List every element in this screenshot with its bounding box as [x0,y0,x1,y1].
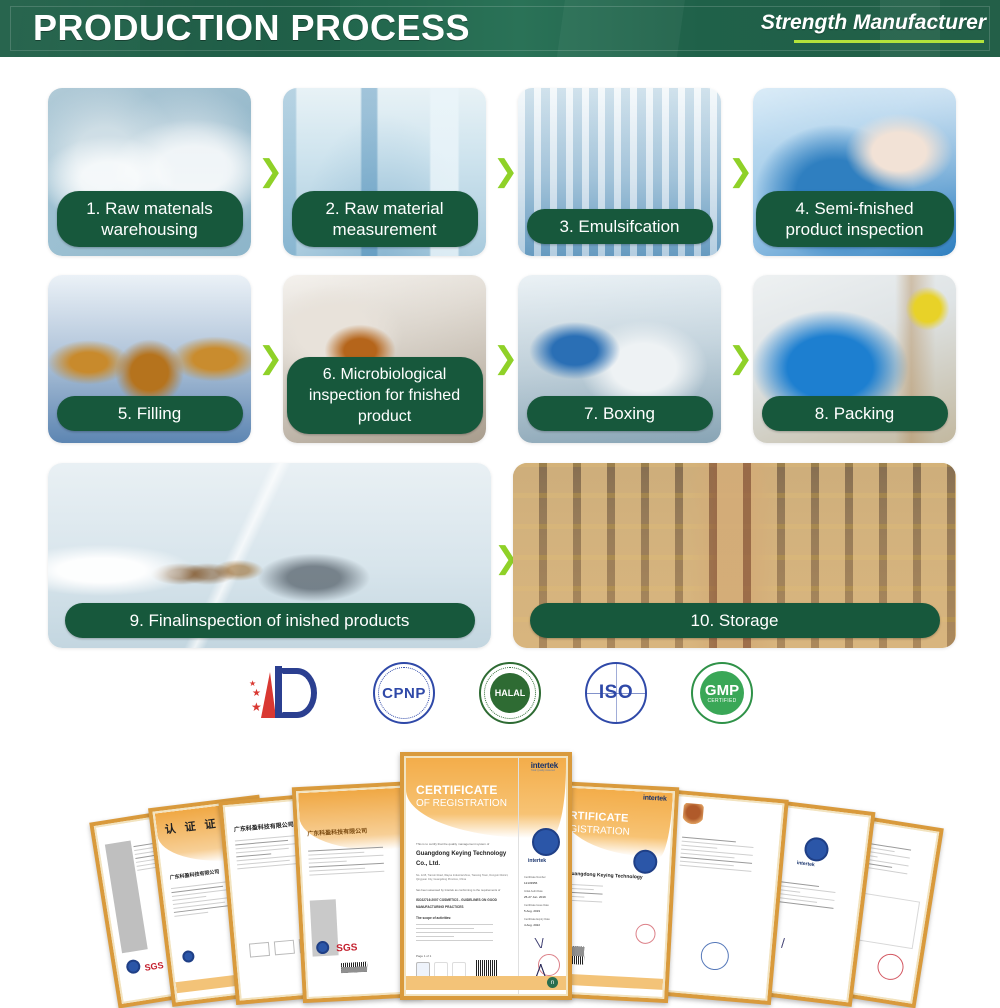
intertek-tagline: Total Quality Assured [531,768,558,772]
page-header-banner: PRODUCTION PROCESS Strength Manufacturer [0,0,1000,57]
certificate-paper: intertek CERTIFICATE OF REGISTRATION Gua… [554,787,673,996]
cert-sgs-mark: SGS [336,946,357,951]
certificate-address: No. 12-B, Tianxin Road, Wayue Industrial… [416,874,512,882]
gmp-logo: GMP CERTIFIED [691,662,753,724]
gmp-badge: GMP CERTIFIED [700,671,744,715]
process-step-card-10[interactable]: 10. Storage [513,463,956,648]
certification-logo-strip: ★ ★ ★ CPNP HALAL ISO GMP CERTIFIED [0,660,1000,726]
intertek-wordmark-secondary: intertek [528,859,546,863]
china-p-logo: ★ ★ ★ [247,662,329,724]
process-step-card-8[interactable]: 8. Packing [753,275,956,443]
chevron-right-icon-2: ❯ [493,157,518,187]
iso-label: ISO [585,662,647,724]
certificate-scope-heading: The scope of activities: [416,916,451,920]
chevron-right-icon-1: ❯ [258,157,283,187]
cert-signature-1 [528,938,562,948]
cert-text-line [309,868,365,872]
certificate-intro: This is to certify that the quality mana… [416,842,489,846]
cert-text-line [309,861,347,864]
halal-label: HALAL [490,673,530,713]
cert-field-label-3: Certificate Expiry Date [524,918,550,922]
cert-ukas-badge: n [547,977,558,988]
cert-footer-band [406,976,566,990]
process-step-card-9[interactable]: 9. Finalinspection of inished products [48,463,491,648]
tagline-underline [794,40,984,43]
cert-red-stamp [635,923,656,944]
p-logo-star-2: ★ [252,688,261,699]
banner-tagline: Strength Manufacturer [761,9,986,37]
certificate-company-line1: Guangdong Keying Technology [416,852,506,856]
process-step-card-2[interactable]: 2. Raw material measurement [283,88,486,256]
cert-field-value-0: 12133956 [524,881,537,885]
page-title: PRODUCTION PROCESS [33,6,470,50]
cert-field-value-2: 5 Aug. 2019 [524,909,540,913]
cert-text-line [308,847,383,852]
process-step-card-6[interactable]: 6. Microbiological inspection for fnishe… [283,275,486,443]
cert-text-line [416,924,493,925]
cert-company-name: 广东科盈科技有限公司 [234,823,294,832]
halal-logo: HALAL [479,662,541,724]
cert-company-name: 广东科盈科技有限公司 [169,870,219,880]
step-label-1: 1. Raw matenals warehousing [57,191,243,247]
step-label-5: 5. Filling [57,396,243,431]
certificate-paper: 广东科盈科技有限公司 SGS [298,787,417,996]
cert-field-label-1: Initial Audit Date [524,890,543,894]
cert-blue-stamp [700,941,730,971]
cert-text-line [416,928,474,929]
cert-column-divider [518,758,519,994]
intertek-logo: intertek [643,797,667,802]
cert-signature-2 [526,964,562,976]
certificate-standard-line1: ISO22716:2007 COSMETICS - GUIDELINES ON … [416,898,497,902]
intertek-wordmark: intertek [643,795,667,803]
cert-text-line [567,884,603,887]
chevron-right-icon-3: ❯ [728,157,753,187]
cpnp-label: CPNP [373,662,435,724]
intertek-globe-icon [532,828,560,856]
cert-sgs-mark: SGS [144,963,163,970]
step-label-9: 9. Finalinspection of inished products [65,603,475,638]
cert-emblem-icon [682,803,704,827]
cert-text-line [309,855,384,860]
cert-field-value-3: 4 Aug. 2022 [524,923,540,927]
process-step-card-1[interactable]: 1. Raw matenals warehousing [48,88,251,256]
certificate-frame [660,794,785,1001]
certificate-title-line1: CERTIFICATE [416,788,498,792]
certificate-company-line2: Co., Ltd. [416,862,440,866]
iso-logo: ISO [585,662,647,724]
cert-text-line [416,940,493,941]
process-step-card-3[interactable]: 3. Emulsifcation [518,88,721,256]
cert-globe-icon [125,959,141,975]
certificate-page-label: Page 1 of 1 [416,954,431,958]
certificate-gallery: SGS 认 证 证 书 广东科盈科技有限公司 [0,730,1000,1000]
certificate-frame: intertek Total Quality Assured CERTIFICA… [404,756,568,996]
cert-text-line [682,841,754,848]
cert-text-line [174,912,208,917]
certificate-paper [662,796,783,998]
cert-globe-icon [182,950,195,963]
cert-field-label-2: Certificate Issue Date [524,904,549,908]
cert-text-line [416,932,493,933]
intertek-wordmark-secondary: intertek [796,861,814,867]
gmp-label: GMP [705,683,739,698]
step-label-8: 8. Packing [762,396,948,431]
step-label-6: 6. Microbiological inspection for fnishe… [287,357,483,434]
step-label-7: 7. Boxing [527,396,713,431]
cert-header-swoosh [298,787,409,854]
process-step-card-4[interactable]: 4. Semi-fnished product inspection [753,88,956,256]
cert-barcode [341,962,367,973]
gmp-sublabel: CERTIFIED [708,698,737,704]
cert-seal-box [249,942,270,958]
process-step-card-7[interactable]: 7. Boxing [518,275,721,443]
certificate-standard-line2: MANUFACTURING PRACTICES [416,905,463,909]
p-logo-arc [277,668,317,718]
cert-text-line [308,852,364,856]
certificate-title-line2: OF REGISTRATION [416,802,507,806]
certificate-company-line1: Guangdong Keying Technology [567,872,642,880]
certificate-paper: intertek Total Quality Assured CERTIFICA… [406,758,566,994]
chevron-right-icon-5: ❯ [493,344,518,374]
cert-text-line [680,865,752,872]
step-label-2: 2. Raw material measurement [292,191,478,247]
cert-field-label-0: Certificate Number [524,876,546,880]
chevron-right-icon-4: ❯ [258,344,283,374]
cert-field-value-1: 25-27 Jun. 2019 [524,895,546,899]
step-label-10: 10. Storage [530,603,940,638]
intertek-logo: intertek Total Quality Assured [531,764,558,772]
certificate-thumb-featured[interactable]: intertek Total Quality Assured CERTIFICA… [400,752,572,1000]
certificate-assessed-text: has been assessed by Intertek as conform… [416,888,500,892]
cert-text-line [309,863,384,868]
cert-seal-box [274,940,295,956]
intertek-globe-icon [803,836,830,863]
cert-red-stamp [876,952,906,982]
p-logo-flame [261,672,276,718]
cert-text-line [416,936,454,937]
process-step-card-5[interactable]: 5. Filling [48,275,251,443]
cert-text-line [309,871,384,876]
intertek-globe-icon [633,849,658,874]
step-label-3: 3. Emulsifcation [527,209,713,244]
chevron-right-icon-6: ❯ [728,344,753,374]
cpnp-logo: CPNP [373,662,435,724]
step-label-4: 4. Semi-fnished product inspection [756,191,954,247]
